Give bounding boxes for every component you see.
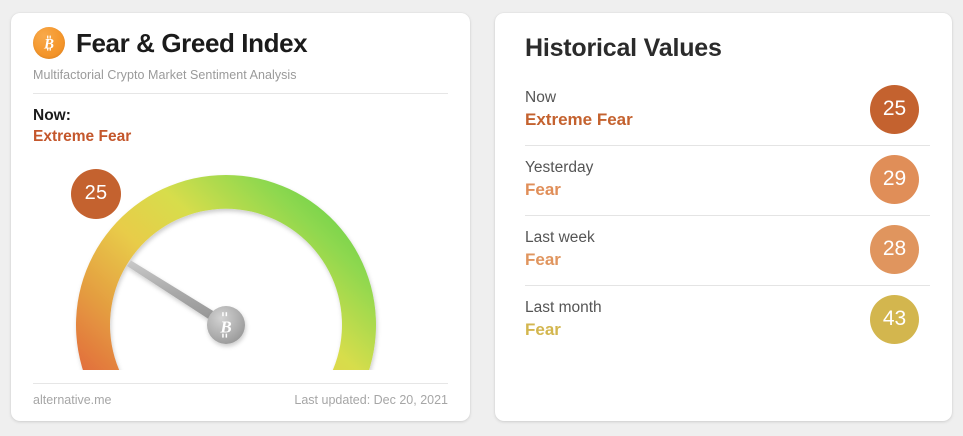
gauge-value-badge: 25 bbox=[71, 169, 121, 219]
page-title: Fear & Greed Index bbox=[76, 30, 307, 56]
history-value-text: 28 bbox=[883, 237, 906, 261]
list-item[interactable]: Last week Fear 28 bbox=[525, 215, 930, 285]
history-row-texts: Yesterday Fear bbox=[525, 159, 593, 200]
history-list: Now Extreme Fear 25 Yesterday Fear 29 bbox=[525, 81, 930, 355]
source-link[interactable]: alternative.me bbox=[33, 393, 112, 407]
history-period: Last week bbox=[525, 229, 595, 246]
history-row-texts: Now Extreme Fear bbox=[525, 89, 633, 130]
footer-row: alternative.me Last updated: Dec 20, 202… bbox=[33, 393, 448, 407]
history-row-texts: Last month Fear bbox=[525, 299, 602, 340]
gauge-card-header: B Fear & Greed Index Multifactorial Cryp… bbox=[11, 13, 470, 94]
history-value-text: 25 bbox=[883, 97, 906, 121]
footer-divider bbox=[33, 383, 448, 384]
history-classification: Extreme Fear bbox=[525, 111, 633, 130]
history-classification: Fear bbox=[525, 181, 593, 200]
list-item[interactable]: Last month Fear 43 bbox=[525, 285, 930, 355]
history-row-texts: Last week Fear bbox=[525, 229, 595, 270]
fear-greed-gauge-card: B Fear & Greed Index Multifactorial Cryp… bbox=[11, 13, 470, 421]
history-title: Historical Values bbox=[525, 35, 930, 63]
gauge-value-text: 25 bbox=[85, 182, 108, 205]
history-period: Last month bbox=[525, 299, 602, 316]
gauge-card-footer: alternative.me Last updated: Dec 20, 202… bbox=[33, 383, 448, 407]
gauge-hub: B bbox=[207, 306, 245, 344]
list-item[interactable]: Now Extreme Fear 25 bbox=[525, 81, 930, 145]
title-row: B Fear & Greed Index bbox=[33, 27, 448, 59]
page-root: B Fear & Greed Index Multifactorial Cryp… bbox=[0, 0, 963, 436]
history-period: Now bbox=[525, 89, 633, 106]
now-label: Now: bbox=[33, 106, 448, 127]
history-value-badge: 29 bbox=[870, 155, 919, 204]
history-value-badge: 25 bbox=[870, 85, 919, 134]
svg-text:B: B bbox=[43, 37, 54, 53]
gauge-chart: B 25 bbox=[11, 152, 470, 342]
bitcoin-icon: B bbox=[33, 27, 65, 59]
history-value-text: 43 bbox=[883, 307, 906, 331]
history-classification: Fear bbox=[525, 321, 602, 340]
page-subtitle: Multifactorial Crypto Market Sentiment A… bbox=[33, 68, 448, 82]
historical-values-card: Historical Values Now Extreme Fear 25 Ye… bbox=[495, 13, 952, 421]
last-updated-text: Last updated: Dec 20, 2021 bbox=[294, 393, 448, 407]
history-value-badge: 43 bbox=[870, 295, 919, 344]
history-classification: Fear bbox=[525, 251, 595, 270]
history-value-text: 29 bbox=[883, 167, 906, 191]
history-value-badge: 28 bbox=[870, 225, 919, 274]
history-inner: Historical Values Now Extreme Fear 25 Ye… bbox=[495, 13, 952, 355]
list-item[interactable]: Yesterday Fear 29 bbox=[525, 145, 930, 215]
svg-text:B: B bbox=[219, 317, 231, 336]
history-period: Yesterday bbox=[525, 159, 593, 176]
